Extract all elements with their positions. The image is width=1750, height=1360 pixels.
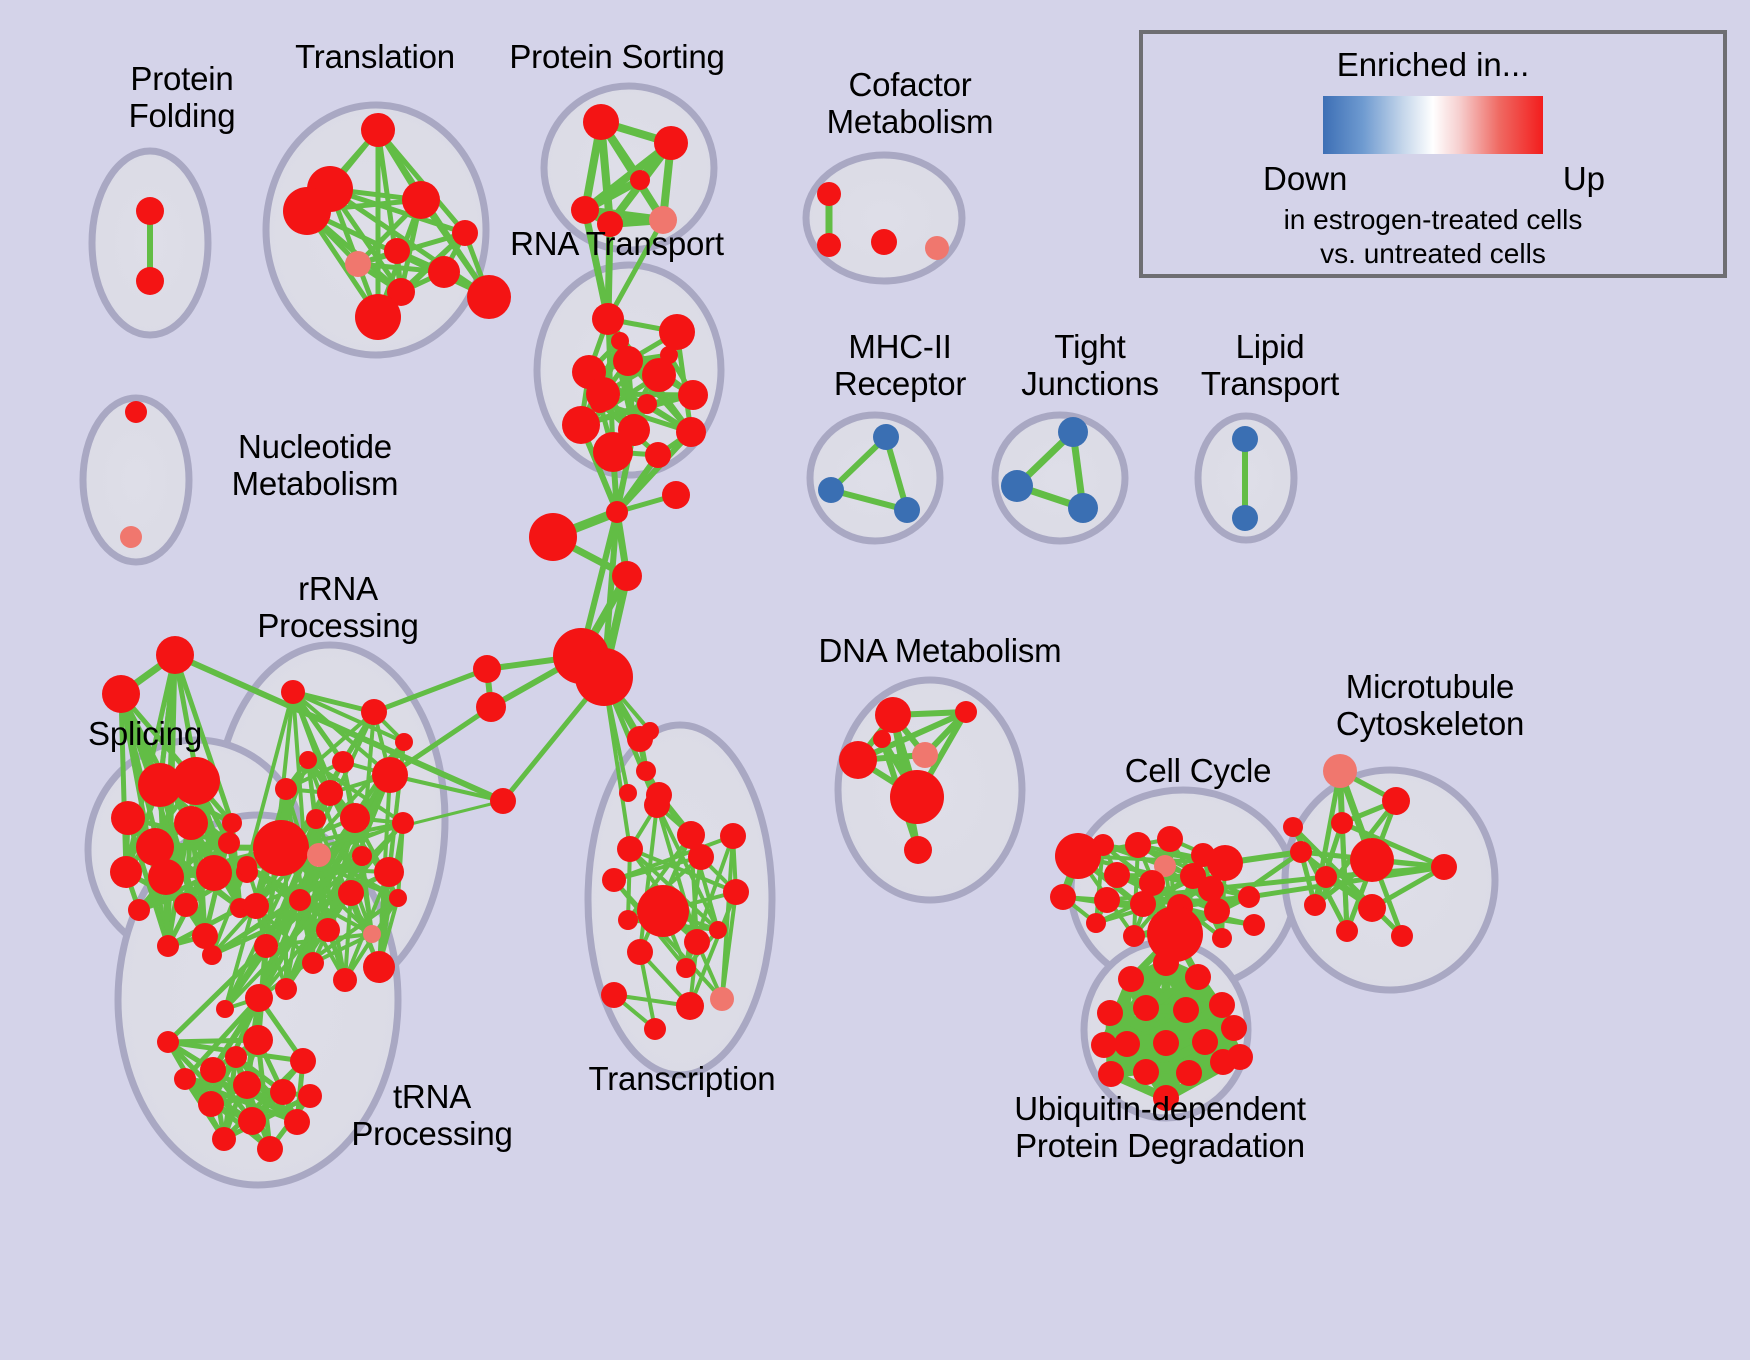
- network-node: [1283, 817, 1303, 837]
- cluster-label-transcription: Transcription: [557, 1060, 807, 1097]
- network-node: [1173, 997, 1199, 1023]
- network-node: [1153, 950, 1179, 976]
- network-node: [238, 1107, 266, 1135]
- network-node: [1238, 886, 1260, 908]
- network-node: [709, 921, 727, 939]
- network-node: [611, 332, 629, 350]
- network-node: [233, 1071, 261, 1099]
- cluster-label-lipid-transport: Lipid Transport: [1160, 328, 1380, 402]
- network-node: [290, 1048, 316, 1074]
- network-node: [894, 497, 920, 523]
- cluster-label-rrna-processing: rRNA Processing: [228, 570, 448, 644]
- network-node: [355, 294, 401, 340]
- network-node: [1098, 1061, 1124, 1087]
- network-node: [299, 751, 317, 769]
- network-node: [1209, 992, 1235, 1018]
- network-node: [1336, 920, 1358, 942]
- network-node: [172, 757, 220, 805]
- network-node: [1001, 470, 1033, 502]
- cluster-label-nucleotide-metabolism: Nucleotide Metabolism: [185, 428, 445, 502]
- network-node: [216, 1000, 234, 1018]
- network-node: [1097, 1000, 1123, 1026]
- network-node: [361, 113, 395, 147]
- network-node: [1212, 928, 1232, 948]
- network-node: [198, 1091, 224, 1117]
- network-node: [593, 432, 633, 472]
- cluster-label-cell-cycle: Cell Cycle: [1098, 752, 1298, 789]
- network-node: [590, 393, 610, 413]
- network-node: [613, 346, 643, 376]
- network-node: [225, 1046, 247, 1068]
- network-node: [645, 442, 671, 468]
- network-node: [688, 844, 714, 870]
- network-node: [1315, 866, 1337, 888]
- network-node: [818, 477, 844, 503]
- network-node: [720, 823, 746, 849]
- network-node: [243, 1025, 273, 1055]
- network-node: [452, 220, 478, 246]
- network-node: [345, 251, 371, 277]
- network-node: [316, 918, 340, 942]
- network-node: [428, 256, 460, 288]
- network-node: [243, 893, 269, 919]
- network-node: [1092, 834, 1114, 856]
- network-node: [678, 380, 708, 410]
- network-node: [212, 1127, 236, 1151]
- network-node: [654, 126, 688, 160]
- network-node: [660, 346, 678, 364]
- network-node: [218, 832, 240, 854]
- network-node: [157, 1031, 179, 1053]
- network-node: [662, 481, 690, 509]
- network-node: [1157, 826, 1183, 852]
- cluster-label-trna-processing: tRNA Processing: [322, 1078, 542, 1152]
- network-node: [529, 513, 577, 561]
- network-node: [641, 722, 659, 740]
- network-node: [644, 792, 670, 818]
- network-node: [1382, 787, 1410, 815]
- network-node: [1125, 832, 1151, 858]
- network-node: [1118, 966, 1144, 992]
- cluster-label-mhc-ii-receptor: MHC-II Receptor: [790, 328, 1010, 402]
- network-node: [612, 561, 642, 591]
- network-node: [275, 778, 297, 800]
- network-node: [307, 843, 331, 867]
- network-node: [200, 1057, 226, 1083]
- network-node: [1114, 1031, 1140, 1057]
- network-node: [340, 803, 370, 833]
- network-node: [298, 1084, 322, 1108]
- network-node: [637, 885, 689, 937]
- network-node: [490, 788, 516, 814]
- network-node: [254, 934, 278, 958]
- network-node: [389, 889, 407, 907]
- network-node: [619, 784, 637, 802]
- network-node: [253, 820, 309, 876]
- network-node: [925, 236, 949, 260]
- network-node: [1227, 1044, 1253, 1070]
- network-node: [402, 181, 440, 219]
- network-node: [338, 880, 364, 906]
- network-node: [283, 187, 331, 235]
- network-node: [1176, 1060, 1202, 1086]
- network-node: [1068, 493, 1098, 523]
- network-node: [395, 733, 413, 751]
- network-node: [110, 856, 142, 888]
- cluster-label-cofactor-metabolism: Cofactor Metabolism: [790, 66, 1030, 140]
- cluster-label-microtubule-cytoskeleton: Microtubule Cytoskeleton: [1295, 668, 1565, 742]
- network-node: [1058, 417, 1088, 447]
- legend-colorbar-wrap: [1143, 96, 1723, 154]
- network-node: [148, 859, 184, 895]
- network-node: [1431, 854, 1457, 880]
- network-node: [1185, 964, 1211, 990]
- network-node: [245, 984, 273, 1012]
- network-node: [1091, 1032, 1117, 1058]
- network-node: [1358, 894, 1386, 922]
- network-node: [136, 267, 164, 295]
- network-node: [192, 923, 218, 949]
- network-node: [157, 935, 179, 957]
- network-node: [1331, 812, 1353, 834]
- network-node: [125, 401, 147, 423]
- network-node: [592, 303, 624, 335]
- network-node: [333, 968, 357, 992]
- network-node: [1153, 1030, 1179, 1056]
- network-node: [1050, 884, 1076, 910]
- legend-caption-line2: vs. untreated cells: [1143, 238, 1723, 270]
- network-node: [1133, 1059, 1159, 1085]
- network-node: [476, 692, 506, 722]
- network-node: [839, 741, 877, 779]
- network-node: [684, 929, 710, 955]
- network-node: [644, 1018, 666, 1040]
- network-node: [1323, 754, 1357, 788]
- cluster-label-ubiquitin-protein-degradation: Ubiquitin-dependent Protein Degradation: [995, 1090, 1325, 1164]
- network-node: [630, 170, 650, 190]
- network-node: [363, 951, 395, 983]
- network-node: [873, 730, 891, 748]
- network-node: [1104, 862, 1130, 888]
- network-node: [875, 697, 911, 733]
- network-node: [1221, 1015, 1247, 1041]
- network-node: [602, 868, 626, 892]
- network-node: [156, 636, 194, 674]
- network-node: [257, 1136, 283, 1162]
- network-node: [1204, 898, 1230, 924]
- network-node: [1290, 841, 1312, 863]
- network-node: [636, 761, 656, 781]
- network-node: [289, 889, 311, 911]
- network-node: [222, 813, 242, 833]
- network-node: [1130, 891, 1156, 917]
- network-node: [202, 945, 222, 965]
- network-node: [676, 417, 706, 447]
- network-node: [302, 952, 324, 974]
- network-node: [128, 899, 150, 921]
- cluster-label-protein-sorting: Protein Sorting: [487, 38, 747, 75]
- network-node: [1094, 887, 1120, 913]
- network-node: [372, 757, 408, 793]
- network-node: [317, 780, 343, 806]
- network-node: [352, 846, 372, 866]
- network-node: [1133, 995, 1159, 1021]
- network-node: [890, 770, 944, 824]
- network-node: [196, 855, 232, 891]
- network-node: [659, 314, 695, 350]
- cluster-label-rna-transport: RNA Transport: [492, 225, 742, 262]
- network-node: [1207, 845, 1243, 881]
- network-node: [281, 680, 305, 704]
- network-node: [904, 836, 932, 864]
- network-node: [617, 836, 643, 862]
- network-node: [606, 501, 628, 523]
- network-node: [710, 987, 734, 1011]
- network-node: [1232, 505, 1258, 531]
- network-node: [1391, 925, 1413, 947]
- network-node: [676, 958, 696, 978]
- network-node: [237, 856, 257, 876]
- network-node: [1123, 925, 1145, 947]
- network-node: [676, 992, 704, 1020]
- network-node: [912, 742, 938, 768]
- network-node: [1232, 426, 1258, 452]
- network-figure: Protein FoldingTranslationProtein Sortin…: [0, 0, 1750, 1360]
- cluster-label-splicing: Splicing: [60, 715, 230, 752]
- network-node: [392, 812, 414, 834]
- network-node: [618, 910, 638, 930]
- network-node: [374, 857, 404, 887]
- network-node: [120, 526, 142, 548]
- network-node: [111, 801, 145, 835]
- network-node: [270, 1079, 296, 1105]
- network-node: [817, 182, 841, 206]
- network-node: [1147, 906, 1203, 962]
- network-node: [174, 806, 208, 840]
- network-node: [1243, 914, 1265, 936]
- network-node: [871, 229, 897, 255]
- network-node: [627, 939, 653, 965]
- network-node: [575, 648, 633, 706]
- network-node: [955, 701, 977, 723]
- network-node: [1304, 894, 1326, 916]
- network-node: [174, 893, 198, 917]
- cluster-label-dna-metabolism: DNA Metabolism: [805, 632, 1075, 669]
- network-node: [1350, 838, 1394, 882]
- network-node: [601, 982, 627, 1008]
- network-node: [817, 233, 841, 257]
- network-node: [1198, 876, 1224, 902]
- cluster-label-translation: Translation: [250, 38, 500, 75]
- legend-down-label: Down: [1263, 160, 1347, 198]
- network-node: [873, 424, 899, 450]
- network-node: [1086, 913, 1106, 933]
- network-node: [467, 275, 511, 319]
- network-node: [174, 1068, 196, 1090]
- network-node: [571, 196, 599, 224]
- network-node: [637, 394, 657, 414]
- network-node: [136, 197, 164, 225]
- legend-title: Enriched in...: [1143, 46, 1723, 84]
- network-node: [332, 751, 354, 773]
- legend-caption-line1: in estrogen-treated cells: [1143, 204, 1723, 236]
- network-node: [284, 1109, 310, 1135]
- legend-box: Enriched in... Down Up in estrogen-treat…: [1139, 30, 1727, 278]
- network-node: [361, 699, 387, 725]
- legend-up-label: Up: [1563, 160, 1605, 198]
- network-node: [1192, 1029, 1218, 1055]
- network-node: [583, 104, 619, 140]
- legend-colorbar: [1323, 96, 1543, 154]
- network-node: [102, 675, 140, 713]
- network-node: [275, 978, 297, 1000]
- network-node: [562, 406, 600, 444]
- network-node: [363, 925, 381, 943]
- network-node: [723, 879, 749, 905]
- network-node: [384, 238, 410, 264]
- network-node: [306, 809, 326, 829]
- network-node: [473, 655, 501, 683]
